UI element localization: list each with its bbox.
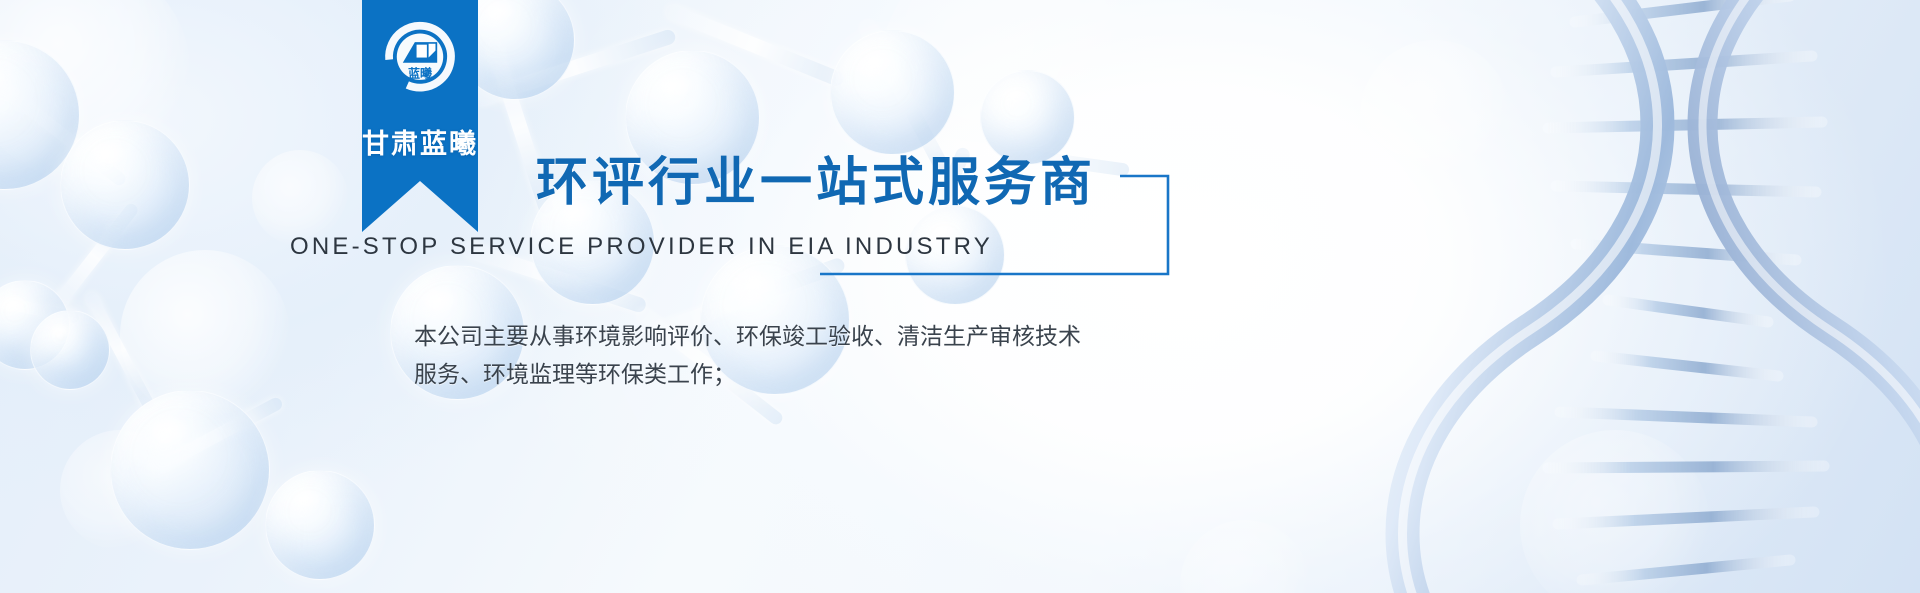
molecule-atom [265, 470, 375, 580]
molecule-atom [60, 120, 190, 250]
bokeh-dot [252, 150, 348, 246]
molecule-atom [0, 40, 80, 190]
molecule-atom [0, 280, 70, 370]
company-name: 甘肃蓝曦 [362, 122, 478, 161]
molecule-bond [2, 85, 128, 188]
company-emblem-icon: 蓝曦 [377, 18, 463, 104]
bokeh-dot [120, 250, 290, 420]
page-description: 本公司主要从事环境影响评价、环保竣工验收、清洁生产审核技术 服务、环境监理等环保… [414, 318, 1081, 394]
molecule-bond [146, 396, 285, 478]
bokeh-dot [60, 430, 180, 550]
hero-banner: 蓝曦 甘肃蓝曦 环评行业一站式服务商 ONE-STOP SERVICE PROV… [0, 0, 1920, 593]
molecule-bond [473, 28, 677, 107]
molecule-atom [830, 30, 955, 155]
bokeh-dot [1180, 520, 1310, 593]
molecule-bond [84, 291, 156, 411]
molecule-bond [0, 288, 80, 325]
company-ribbon: 蓝曦 甘肃蓝曦 [362, 0, 478, 232]
molecule-bond [664, 3, 846, 88]
emblem-label: 蓝曦 [408, 65, 432, 80]
page-subtitle: ONE-STOP SERVICE PROVIDER IN EIA INDUSTR… [290, 233, 993, 261]
molecule-bond [50, 201, 140, 311]
page-title: 环评行业一站式服务商 [536, 140, 1096, 215]
bokeh-dot [0, 0, 190, 180]
molecule-atom [110, 390, 270, 550]
dna-double-helix-graphic [1360, 0, 1920, 593]
molecule-atom [30, 310, 110, 390]
